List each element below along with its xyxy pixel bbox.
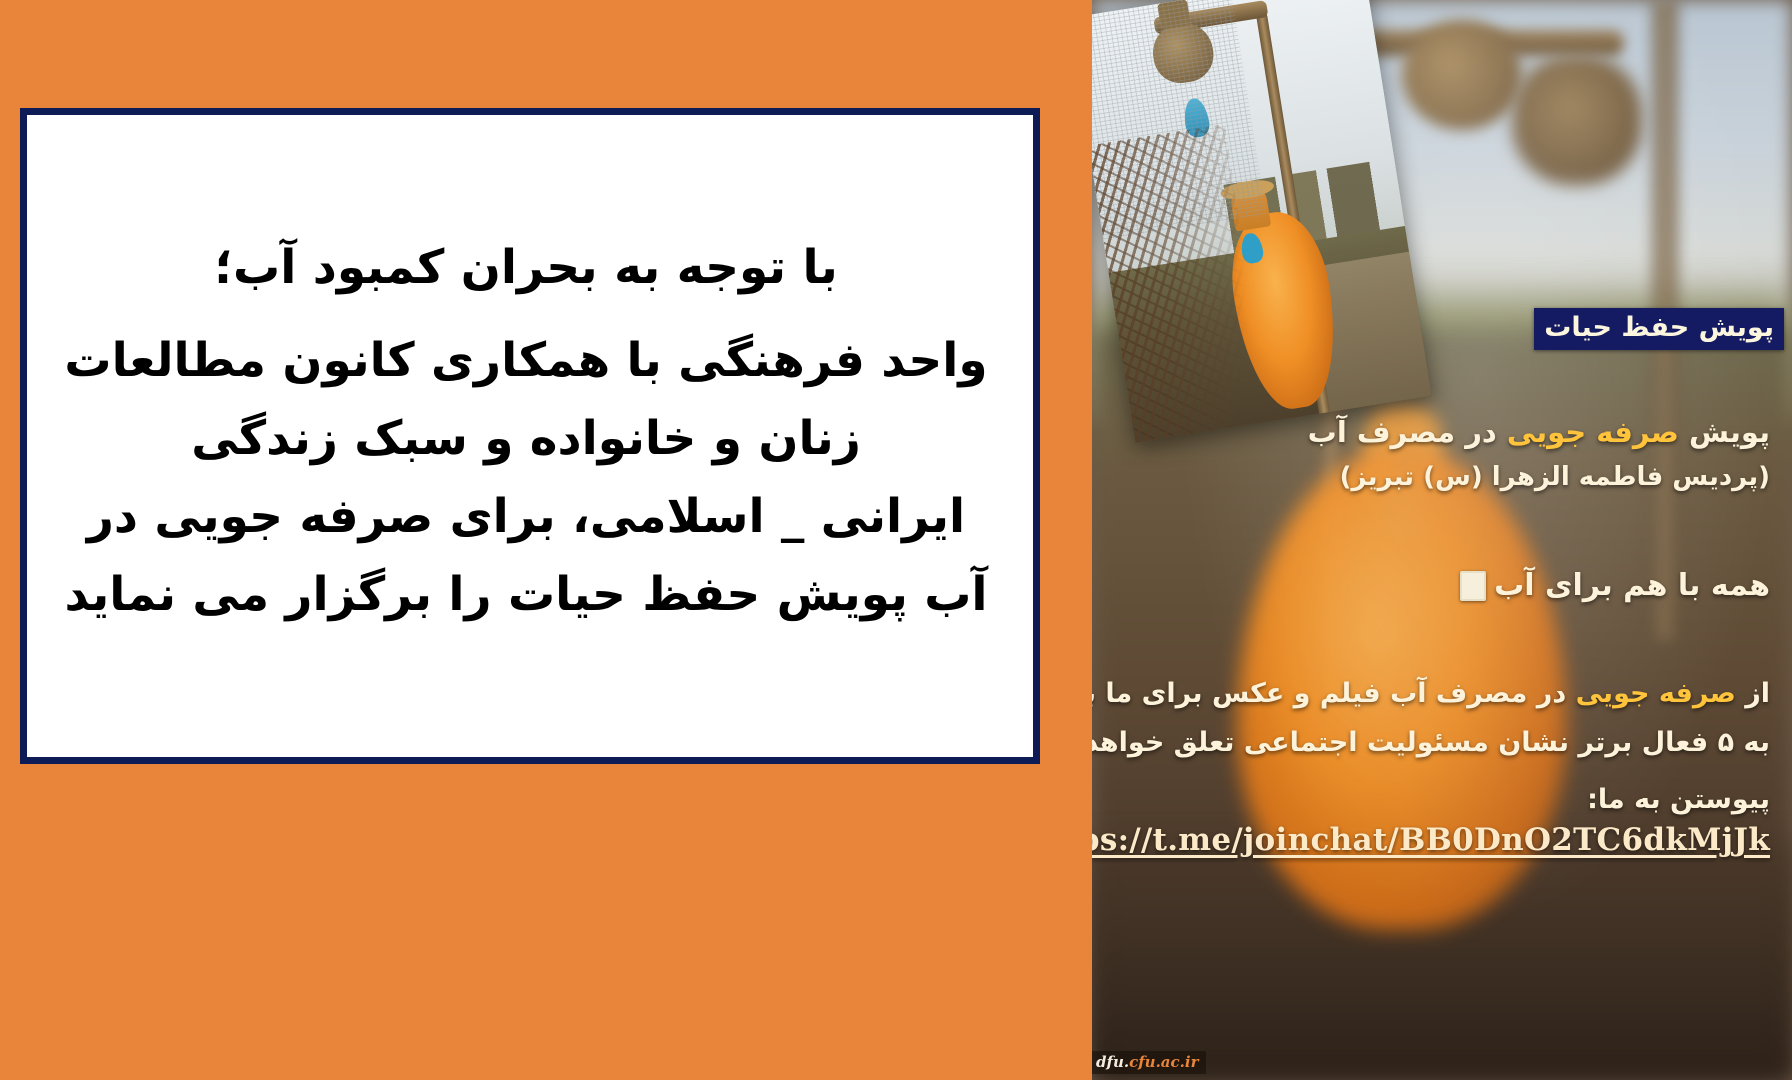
faucet-body-icon — [1512, 55, 1642, 185]
announcement-line-4: ایرانی _ اسلامی، برای صرفه جویی در — [57, 483, 995, 551]
send-suffix: در مصرف آب فیلم و عکس برای ما بفرستید. — [1092, 678, 1576, 709]
slogan-highlight: صرفه جویی — [1507, 415, 1679, 449]
send-prefix: از — [1736, 678, 1770, 709]
announcement-box: با توجه به بحران کمبود آب؛ واحد فرهنگی ب… — [20, 108, 1040, 764]
announcement-line-2: واحد فرهنگی با همکاری کانون مطالعات — [57, 327, 995, 395]
slogan-suffix: در مصرف آب — [1308, 415, 1507, 449]
slogan-prefix: پویش — [1679, 415, 1770, 449]
send-line-1: از صرفه جویی در مصرف آب فیلم و عکس برای … — [1092, 678, 1770, 709]
photo-panel: پویش حفظ حیات پویش صرفه جویی در مصرف آب … — [1092, 0, 1792, 1080]
join-label: پیوستن به ما: — [1587, 784, 1770, 815]
announcement-line-1: با توجه به بحران کمبود آب؛ — [57, 234, 995, 302]
site-watermark: dfu.cfu.ac.ir — [1092, 1051, 1206, 1074]
poster-root: با توجه به بحران کمبود آب؛ واحد فرهنگی ب… — [0, 0, 1792, 1080]
checkbox-icon — [1460, 571, 1486, 601]
telegram-join-link[interactable]: https://t.me/joinchat/BB0DnO2TC6dkMjJk — [1092, 822, 1770, 858]
slogan-line-2: (پردیس فاطمه الزهرا (س) تبریز) — [1340, 462, 1770, 492]
campaign-banner: پویش حفظ حیات — [1534, 308, 1784, 350]
announcement-panel: با توجه به بحران کمبود آب؛ واحد فرهنگی ب… — [0, 0, 1092, 1080]
send-line-2: به ۵ فعال برتر نشان مسئولیت اجتماعی تعلق… — [1092, 727, 1770, 758]
together-label: همه با هم برای آب — [1494, 568, 1770, 603]
announcement-line-3: زنان و خانواده و سبک زندگی — [57, 405, 995, 473]
faucet-head-icon — [1402, 20, 1522, 130]
watermark-part-1: dfu. — [1096, 1053, 1129, 1071]
announcement-line-5: آب پویش حفظ حیات را برگزار می نماید — [57, 561, 995, 629]
together-line: همه با هم برای آب — [1460, 568, 1770, 603]
watermark-part-2: cfu.ac.ir — [1129, 1053, 1198, 1071]
slogan-line-1: پویش صرفه جویی در مصرف آب — [1308, 415, 1770, 449]
send-highlight: صرفه جویی — [1576, 678, 1736, 709]
